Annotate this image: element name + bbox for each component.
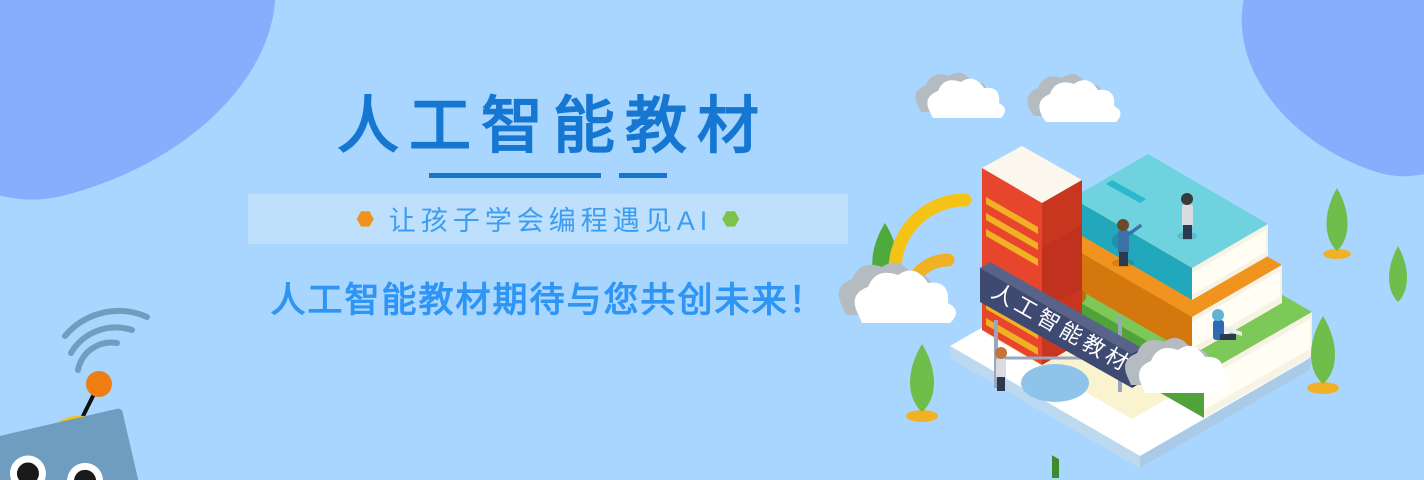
isometric-illustration: 人工智能教材 [790,58,1410,478]
subtitle-band: 让孩子学会编程遇见AI [248,194,848,244]
antenna-ball-icon [86,371,112,397]
signal-arcs-icon [65,311,147,370]
subtitle-text: 让孩子学会编程遇见AI [384,199,713,238]
robot-mascot [0,290,186,480]
hexagon-green-icon [722,210,739,227]
tree-mid-left [906,344,938,422]
divider-segment-short [619,173,667,178]
tree-far-right [1389,246,1407,302]
cloud-top-right [1027,74,1120,122]
cloud-left [839,263,956,324]
cloud-upper-left [915,73,1005,118]
divider-segment-long [429,173,601,178]
title-divider [248,173,848,178]
page-title: 人工智能教材 [248,94,848,161]
tagline-text: 人工智能教材期待与您共创未来！ [248,272,848,323]
ai-textbook-banner: 人工智能教材 让孩子学会编程遇见AI 人工智能教材期待与您共创未来！ [0,0,1424,480]
hexagon-orange-icon [357,210,374,227]
headline-block: 人工智能教材 让孩子学会编程遇见AI 人工智能教材期待与您共创未来！ [248,94,848,323]
pond [1021,364,1089,402]
tree-right-upper [1323,188,1351,259]
